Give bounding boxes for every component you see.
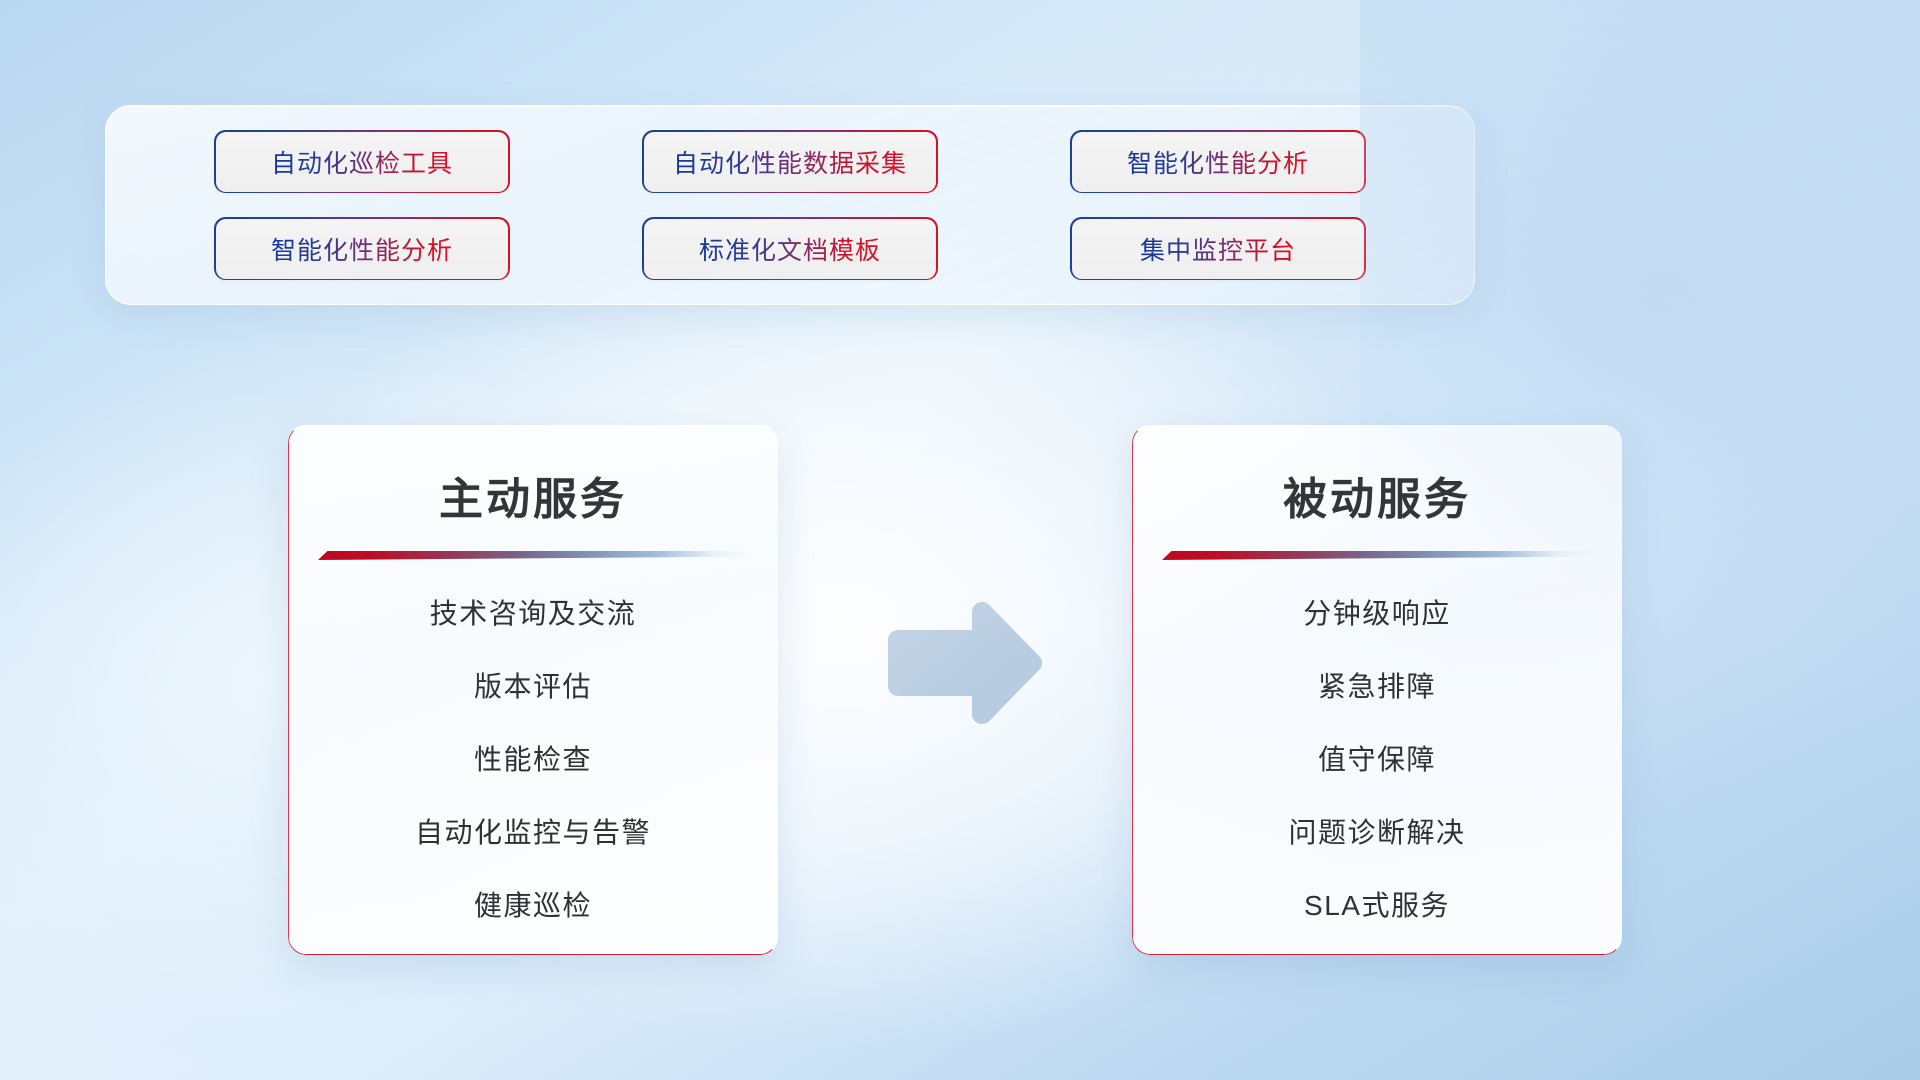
capability-tags-panel: 自动化巡检工具 自动化性能数据采集 智能化性能分析 智能化性能分析 标准化文档模… [105,105,1475,305]
capability-tag-label: 标准化文档模板 [699,231,881,267]
capability-tag-1[interactable]: 自动化巡检工具 [216,132,508,192]
service-item-list: 技术咨询及交流 版本评估 性能检查 自动化监控与告警 健康巡检 [288,600,778,920]
service-list-item: 自动化监控与告警 [288,819,778,847]
service-item-list: 分钟级响应 紧急排障 值守保障 问题诊断解决 SLA式服务 [1132,600,1622,920]
capability-tag-label: 智能化性能分析 [271,231,453,267]
capability-tag-label: 自动化性能数据采集 [673,144,907,180]
card-title: 被动服务 [1132,463,1622,527]
capability-tag-label: 集中监控平台 [1140,231,1296,267]
arrow-right-icon [880,600,1046,726]
slide-canvas: 自动化巡检工具 自动化性能数据采集 智能化性能分析 智能化性能分析 标准化文档模… [0,0,1920,1080]
service-list-item: 分钟级响应 [1132,600,1622,628]
capability-tag-label: 智能化性能分析 [1127,144,1309,180]
capability-tag-3[interactable]: 智能化性能分析 [1072,132,1364,192]
card-title-divider [318,551,748,560]
capability-tag-4[interactable]: 智能化性能分析 [216,219,508,279]
capability-tag-5[interactable]: 标准化文档模板 [644,219,936,279]
service-list-item: 问题诊断解决 [1132,819,1622,847]
card-title-divider [1162,551,1592,560]
service-list-item: 紧急排障 [1132,673,1622,701]
service-list-item: 健康巡检 [288,892,778,920]
service-card-reactive: 被动服务 分钟级响应 紧急排障 值守保障 问题诊断解决 SLA式服务 [1132,425,1622,955]
service-list-item: 性能检查 [288,746,778,774]
service-list-item: 值守保障 [1132,746,1622,774]
capability-tag-2[interactable]: 自动化性能数据采集 [644,132,936,192]
capability-tag-label: 自动化巡检工具 [271,144,453,180]
service-card-proactive: 主动服务 技术咨询及交流 版本评估 性能检查 自动化监控与告警 健康巡检 [288,425,778,955]
service-list-item: 技术咨询及交流 [288,600,778,628]
service-list-item: SLA式服务 [1132,892,1622,920]
card-title: 主动服务 [288,463,778,527]
service-list-item: 版本评估 [288,673,778,701]
capability-tag-6[interactable]: 集中监控平台 [1072,219,1364,279]
